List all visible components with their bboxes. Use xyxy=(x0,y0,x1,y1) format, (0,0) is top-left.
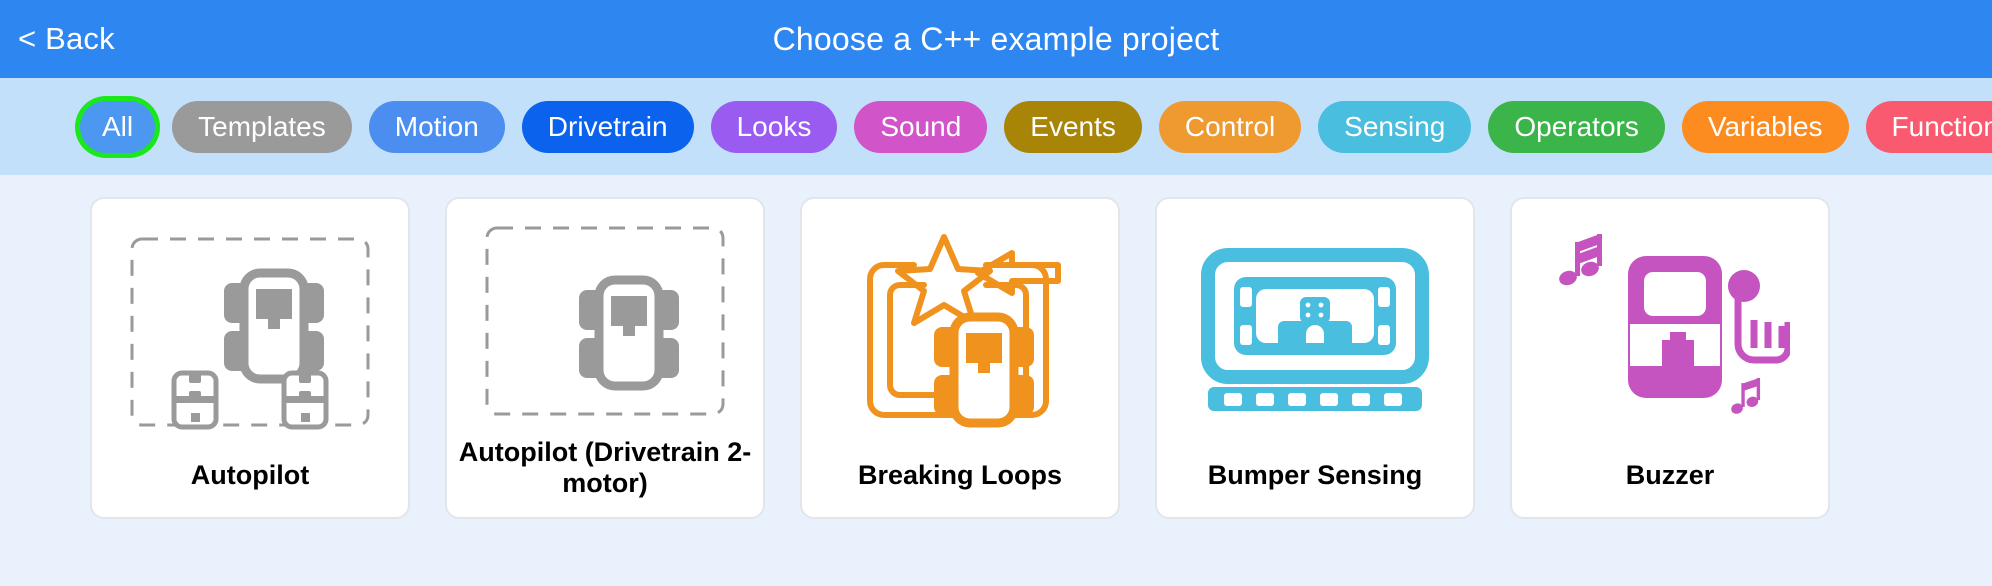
bumper-screen-robot-icon xyxy=(1157,199,1473,460)
category-pill-label: Sound xyxy=(880,111,961,143)
example-project-card-label: Bumper Sensing xyxy=(1157,460,1473,517)
robot-with-two-sensors-icon xyxy=(92,199,408,460)
example-project-card-label: Autopilot (Drivetrain 2-motor) xyxy=(447,437,763,517)
example-project-card[interactable]: Buzzer xyxy=(1510,197,1830,519)
app-header: < Back Choose a C++ example project xyxy=(0,0,1992,78)
category-filter-bar: AllTemplatesMotionDrivetrainLooksSoundEv… xyxy=(0,78,1992,175)
category-pill-looks[interactable]: Looks xyxy=(711,101,838,153)
category-pill-label: Motion xyxy=(395,111,479,143)
category-pill-label: Drivetrain xyxy=(548,111,668,143)
category-pill-motion[interactable]: Motion xyxy=(369,101,505,153)
category-pill-label: Variables xyxy=(1708,111,1823,143)
category-pill-label: Templates xyxy=(198,111,326,143)
category-pill-label: Operators xyxy=(1514,111,1639,143)
category-pill-all[interactable]: All xyxy=(80,101,155,153)
example-project-card[interactable]: Breaking Loops xyxy=(800,197,1120,519)
example-project-card[interactable]: Autopilot xyxy=(90,197,410,519)
example-project-card-label: Autopilot xyxy=(92,460,408,517)
example-project-card[interactable]: Bumper Sensing xyxy=(1155,197,1475,519)
category-pill-templates[interactable]: Templates xyxy=(172,101,352,153)
category-pill-control[interactable]: Control xyxy=(1159,101,1301,153)
category-pill-label: All xyxy=(102,111,133,143)
category-pill-sensing[interactable]: Sensing xyxy=(1318,101,1471,153)
category-pill-label: Sensing xyxy=(1344,111,1445,143)
category-pill-label: Control xyxy=(1185,111,1275,143)
category-pill-label: Looks xyxy=(737,111,812,143)
category-pill-label: Functions xyxy=(1892,111,1992,143)
category-pill-label: Events xyxy=(1030,111,1116,143)
loop-break-robot-icon xyxy=(802,199,1118,460)
category-pill-sound[interactable]: Sound xyxy=(854,101,987,153)
buzzer-music-hand-icon xyxy=(1512,199,1828,460)
example-project-grid: AutopilotAutopilot (Drivetrain 2-motor)B… xyxy=(0,175,1992,519)
category-pill-variables[interactable]: Variables xyxy=(1682,101,1849,153)
category-pill-functions[interactable]: Functions xyxy=(1866,101,1992,153)
category-pill-operators[interactable]: Operators xyxy=(1488,101,1665,153)
example-project-card-label: Breaking Loops xyxy=(802,460,1118,517)
page-title: Choose a C++ example project xyxy=(0,21,1992,58)
category-pill-drivetrain[interactable]: Drivetrain xyxy=(522,101,694,153)
example-project-card[interactable]: Autopilot (Drivetrain 2-motor) xyxy=(445,197,765,519)
example-project-card-label: Buzzer xyxy=(1512,460,1828,517)
robot-drivetrain-icon xyxy=(447,199,763,437)
back-button[interactable]: < Back xyxy=(18,21,115,57)
category-pill-events[interactable]: Events xyxy=(1004,101,1142,153)
